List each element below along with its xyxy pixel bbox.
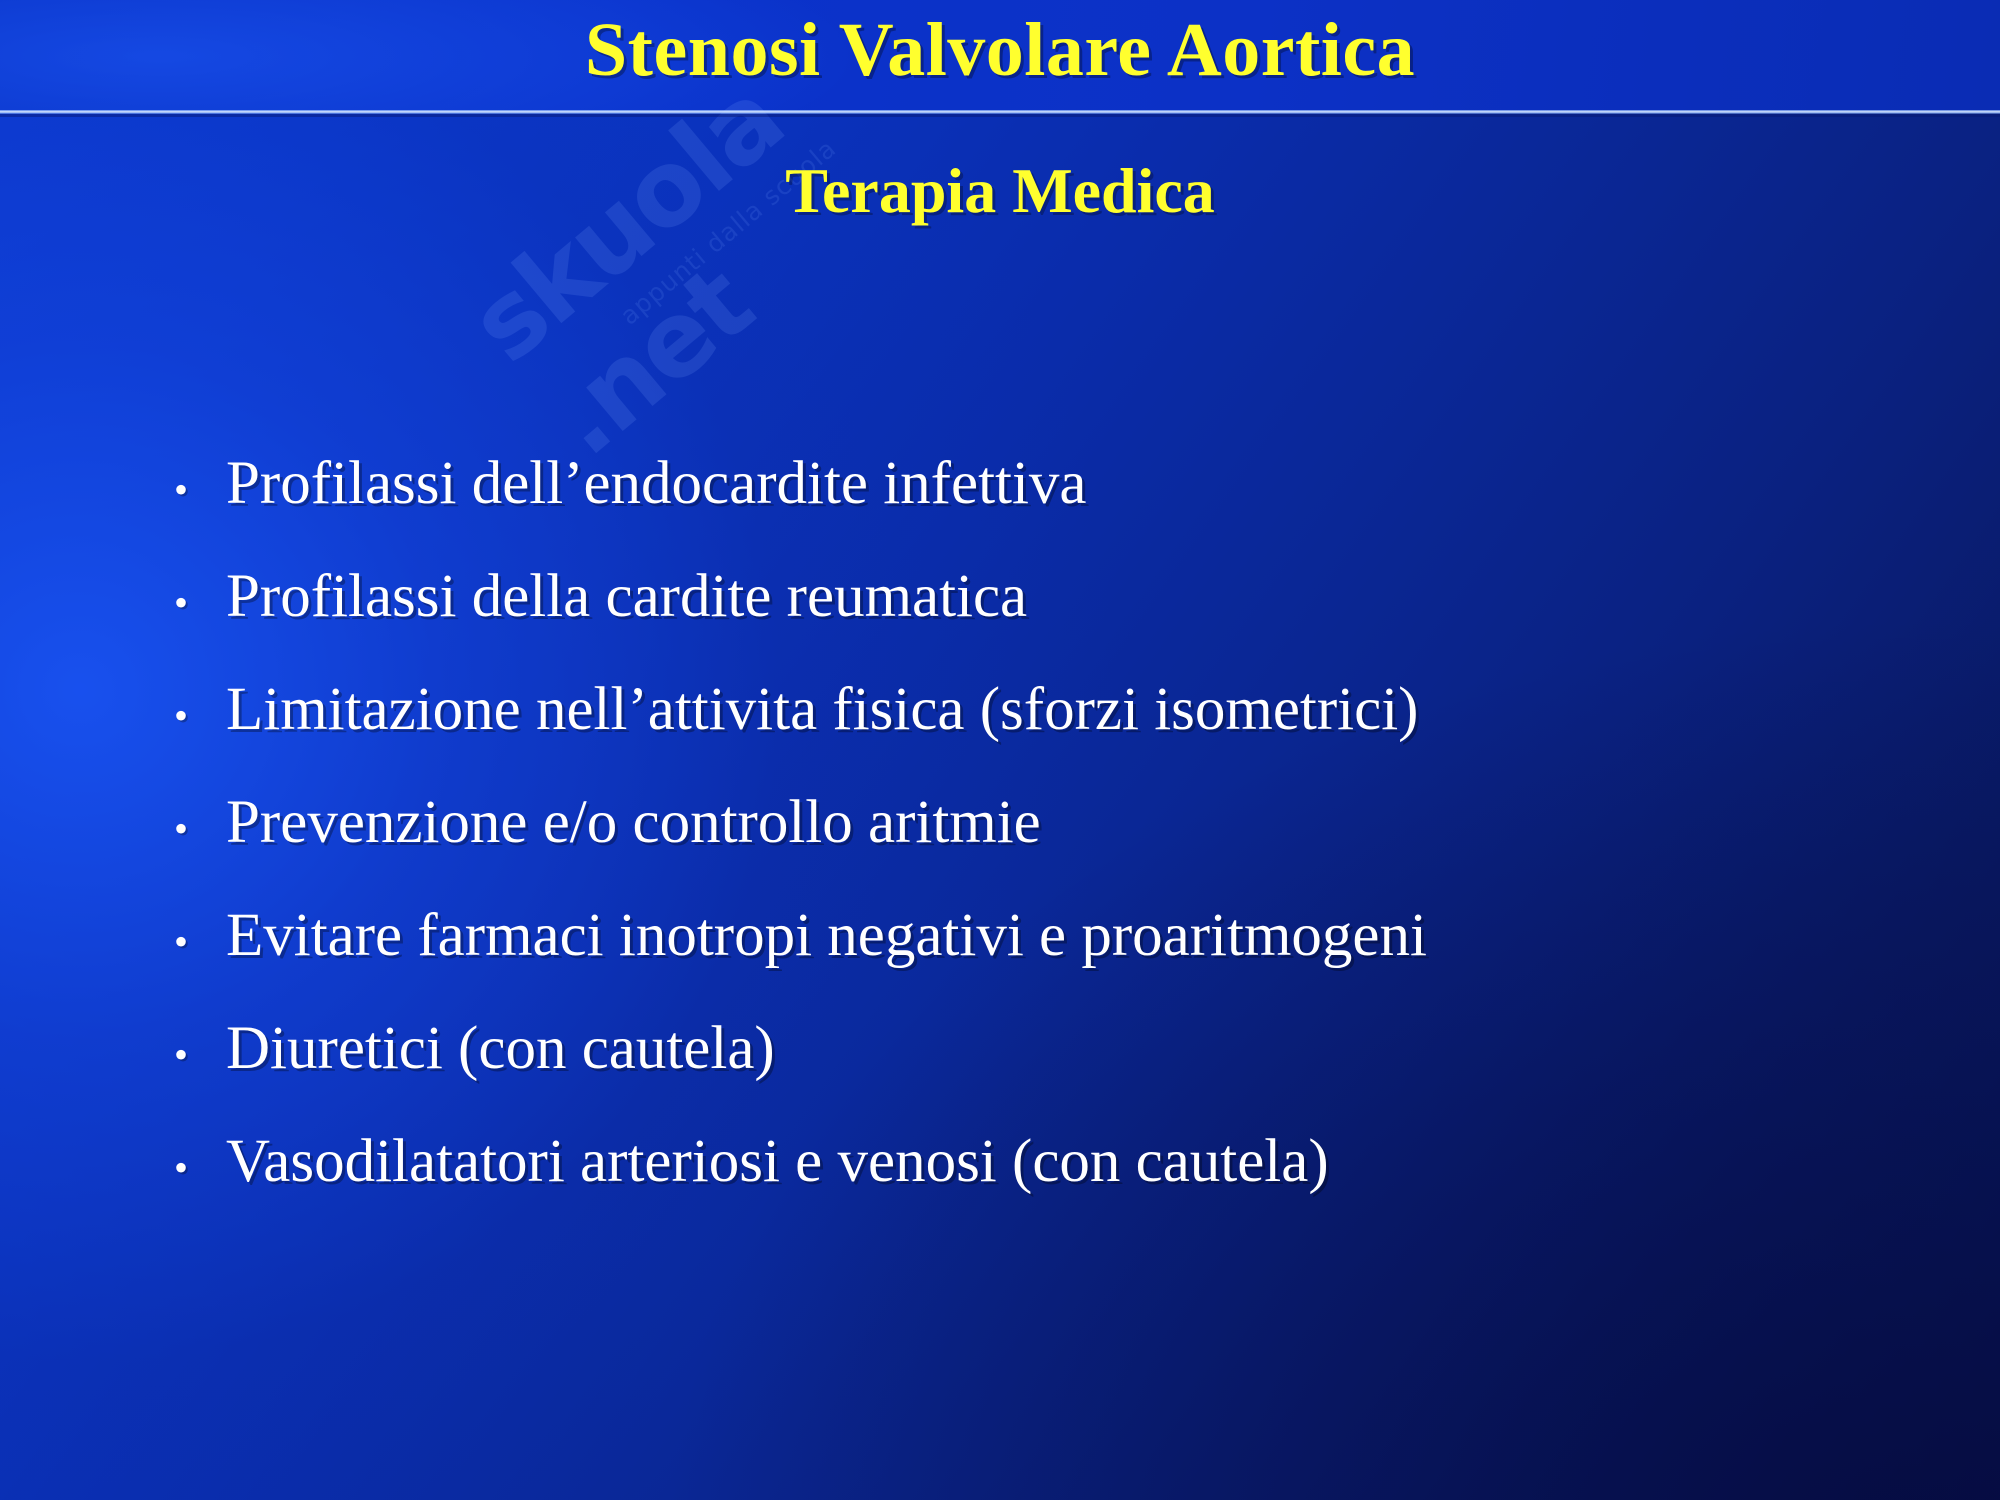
bullet-label: Vasodilatatori arteriosi e venosi (con c… xyxy=(226,1130,1329,1194)
bullet-dot-icon: • xyxy=(150,470,226,510)
bullet-dot-icon: • xyxy=(150,1148,226,1188)
bullet-dot-icon: • xyxy=(150,1035,226,1075)
title-divider-shadow xyxy=(0,114,2000,117)
bullet-label: Diuretici (con cautela) xyxy=(226,1017,775,1081)
bullet-dot-icon: • xyxy=(150,922,226,962)
list-item: • Limitazione nell’attivita fisica (sfor… xyxy=(150,678,1950,791)
bullet-label: Evitare farmaci inotropi negativi e proa… xyxy=(226,904,1427,968)
list-item: • Prevenzione e/o controllo aritmie xyxy=(150,791,1950,904)
bullet-dot-icon: • xyxy=(150,809,226,849)
bullet-dot-icon: • xyxy=(150,583,226,623)
slide-title: Stenosi Valvolare Aortica xyxy=(0,2,2000,98)
slide-subtitle: Terapia Medica xyxy=(0,152,2000,230)
bullet-label: Profilassi della cardite reumatica xyxy=(226,565,1027,629)
list-item: • Profilassi dell’endocardite infettiva xyxy=(150,452,1950,565)
bullet-dot-icon: • xyxy=(150,696,226,736)
list-item: • Vasodilatatori arteriosi e venosi (con… xyxy=(150,1130,1950,1243)
bullet-label: Limitazione nell’attivita fisica (sforzi… xyxy=(226,678,1418,742)
list-item: • Diuretici (con cautela) xyxy=(150,1017,1950,1130)
list-item: • Evitare farmaci inotropi negativi e pr… xyxy=(150,904,1950,1017)
bullet-list: • Profilassi dell’endocardite infettiva … xyxy=(150,452,1950,1243)
list-item: • Profilassi della cardite reumatica xyxy=(150,565,1950,678)
slide-canvas: skuola.net appunti dalla scuola Stenosi … xyxy=(0,0,2000,1500)
bullet-label: Prevenzione e/o controllo aritmie xyxy=(226,791,1041,855)
bullet-label: Profilassi dell’endocardite infettiva xyxy=(226,452,1087,516)
